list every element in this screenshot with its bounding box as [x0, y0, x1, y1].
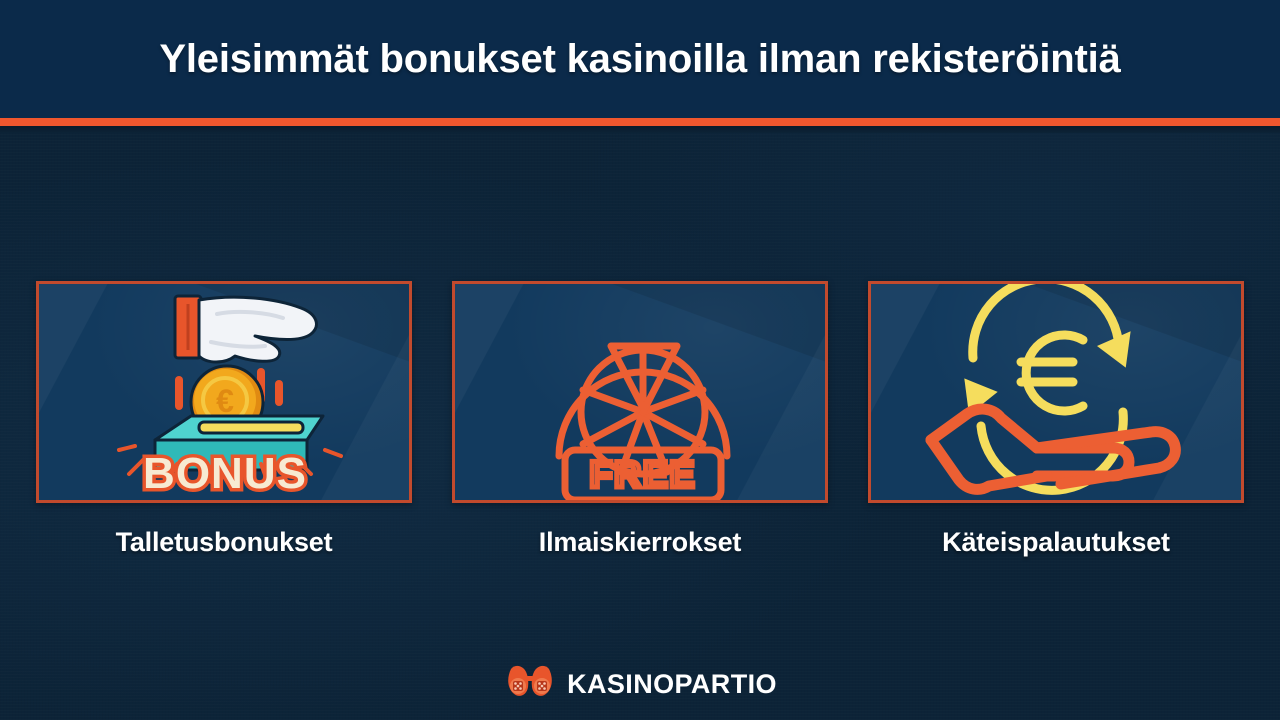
fortune-wheel-free-spins-icon: FREE — [455, 284, 825, 500]
card-labels-row: Talletusbonukset Ilmaiskierrokset Käteis… — [0, 518, 1280, 566]
card-label-deposit-bonus: Talletusbonukset — [116, 527, 333, 558]
header-drop-shadow — [0, 126, 1280, 133]
label-cell-free-spins: Ilmaiskierrokset — [452, 518, 828, 566]
card-label-cashback: Käteispalautukset — [942, 527, 1170, 558]
card-deposit-bonus[interactable]: € BONUS — [36, 281, 412, 503]
card-free-spins[interactable]: FREE — [452, 281, 828, 503]
label-cell-deposit-bonus: Talletusbonukset — [36, 518, 412, 566]
header-band: Yleisimmät bonukset kasinoilla ilman rek… — [0, 0, 1280, 118]
label-cell-cashback: Käteispalautukset — [868, 518, 1244, 566]
binoculars-dice-logo-icon — [503, 665, 557, 704]
hand-dropping-euro-coin-into-bonus-slot-icon: € BONUS — [39, 284, 409, 500]
brand-wordmark: KASINOPARTIO — [567, 669, 777, 700]
footer-brand[interactable]: KASINOPARTIO — [0, 662, 1280, 706]
infographic-canvas: Yleisimmät bonukset kasinoilla ilman rek… — [0, 0, 1280, 720]
free-art-text: FREE — [590, 454, 697, 495]
bonus-art-text: BONUS — [143, 449, 307, 498]
svg-text:€: € — [216, 383, 234, 419]
bonus-cards-row: € BONUS — [0, 281, 1280, 503]
card-cashback[interactable] — [868, 281, 1244, 503]
page-title: Yleisimmät bonukset kasinoilla ilman rek… — [80, 35, 1200, 84]
header-divider-rule — [0, 118, 1280, 126]
card-label-free-spins: Ilmaiskierrokset — [539, 527, 741, 558]
euro-cashback-hand-icon — [871, 284, 1241, 500]
